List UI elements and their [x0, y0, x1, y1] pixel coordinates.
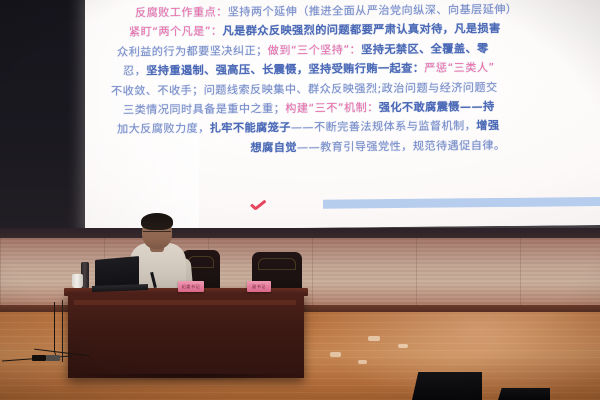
slide-text-segment: 反腐败工作重点： [135, 6, 228, 20]
slide-text-segment: ——教育引导强党性，规范待遇促自律。 [297, 139, 506, 154]
slide-text-segment: ——不断完善法规体系与监督机制， [291, 120, 476, 135]
slide-text-segment: 忍， [123, 65, 146, 78]
footer-bar [323, 197, 600, 209]
stage-monitor-speaker [412, 372, 482, 400]
slide-text-segment: 三类情况同时具备是重中之重； [123, 102, 285, 117]
glasses-icon [143, 231, 171, 237]
floor-highlight [358, 360, 367, 364]
slide-text-segment: 增强 [476, 119, 499, 132]
slide-text-segment: 加大反腐败力度， [117, 122, 210, 136]
slide-text-segment: 扎牢不能腐笼子 [210, 121, 291, 135]
slide-text-segment: 坚持两个延伸（推进全面从严治党向纵深、向基层延伸） [228, 3, 518, 19]
slide-text-segment: 想腐自觉 [251, 141, 297, 154]
name-placard-label: 副书记 [247, 281, 271, 292]
slide-text-segment: 紧盯“两个凡是”： [129, 25, 223, 39]
slide-text-segment: 做到“三个坚持”： [268, 43, 362, 57]
name-placard: 纪委书记 [178, 281, 204, 292]
chair-trim [258, 258, 296, 270]
slide-text-block: 反腐败工作重点：坚持两个延伸（推进全面从严治党向纵深、向基层延伸）紧盯“两个凡是… [85, 0, 600, 159]
slide-text-segment: 坚持重遏制、强高压、长震慑，坚持受贿行贿一起查： [146, 62, 424, 78]
slide-text-segment: 凡是群众反映强烈的问题都要严肃认真对待，凡是损害 [223, 22, 501, 38]
name-placard: 副书记 [247, 281, 271, 292]
lecture-hall-photo: 反腐败工作重点：坚持两个延伸（推进全面从严治党向纵深、向基层延伸）紧盯“两个凡是… [0, 0, 600, 400]
slide-text-segment: 强化不敢腐震慑——持 [379, 100, 495, 114]
stage-monitor-speaker-small [498, 388, 550, 400]
slide-text-segment: 坚持无禁区、全覆盖、零 [361, 42, 488, 56]
slide-footer-decoration [109, 192, 600, 219]
slide-text-segment: 构建“三不”机制： [285, 101, 379, 115]
floor-highlight [368, 336, 380, 341]
slide-text-segment: 不收敛、不收手；问题线索反映集中、群众反映强烈;政治问题与经济问题交 [111, 81, 498, 98]
desk-rail [74, 300, 296, 305]
floor-highlight [398, 344, 408, 348]
slide-text-segment: 严惩“三类人” [424, 61, 494, 75]
floor-highlight [330, 352, 341, 357]
power-strip [32, 355, 46, 361]
speaker-hair [141, 213, 173, 230]
chair-trim [188, 256, 214, 268]
checkmark-icon [249, 200, 267, 214]
paper-cup [72, 274, 83, 288]
power-strip-plug [46, 355, 60, 361]
slide-text-segment: 众利益的行为都要坚决纠正； [117, 44, 268, 58]
name-placard-label: 纪委书记 [178, 281, 204, 292]
desk-shadow [60, 374, 316, 384]
projection-screen: 反腐败工作重点：坚持两个延伸（推进全面从严治党向纵深、向基层延伸）紧盯“两个凡是… [85, 0, 600, 230]
